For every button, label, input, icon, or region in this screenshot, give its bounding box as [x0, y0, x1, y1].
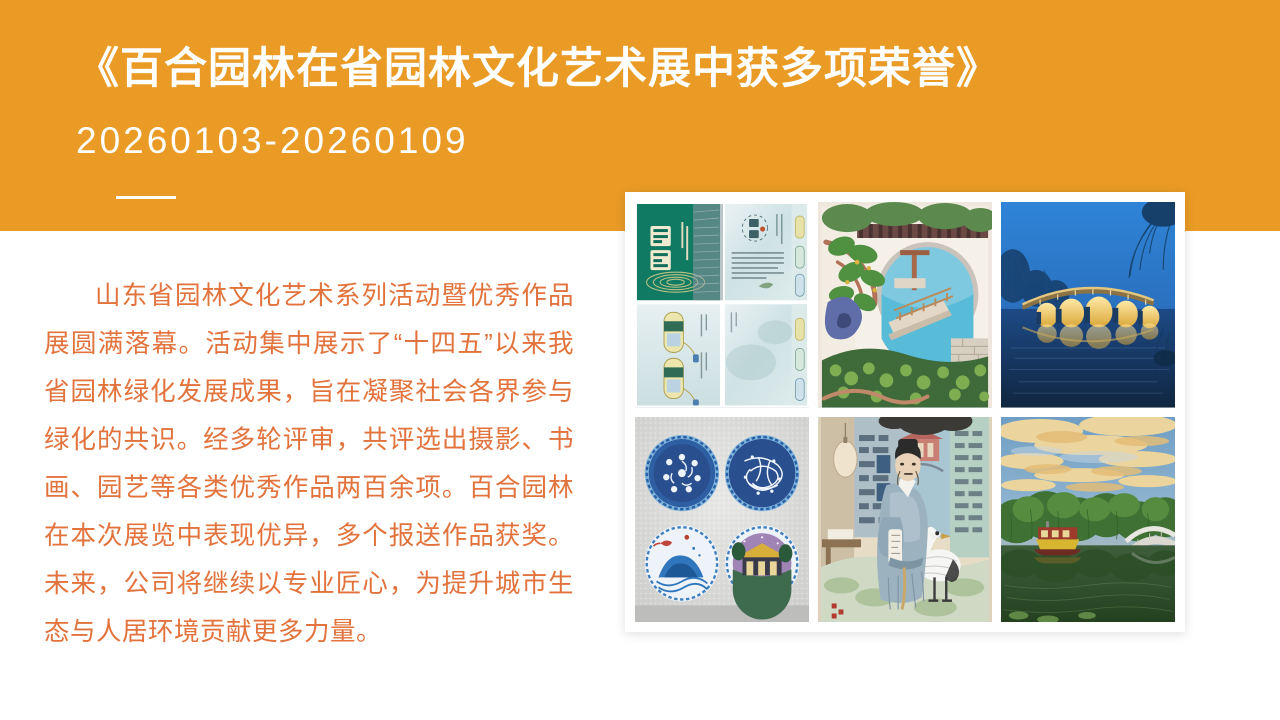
book-spread-artwork — [635, 202, 809, 408]
date-range: 20260103-20260109 — [76, 118, 469, 164]
photo-grid — [635, 202, 1175, 622]
gallery-item-garden-painting[interactable] — [818, 202, 992, 408]
gallery-item-lake-sunset[interactable] — [1001, 417, 1175, 623]
gallery-item-porcelain-plates[interactable] — [635, 417, 809, 623]
night-bridge-photo — [1001, 202, 1175, 408]
porcelain-plates-photo — [635, 417, 809, 623]
lake-sunset-photo — [1001, 417, 1175, 623]
title-underline-rule — [116, 196, 176, 199]
photo-card — [625, 192, 1185, 632]
gallery-item-night-bridge[interactable] — [1001, 202, 1175, 408]
article-body: 山东省园林文化艺术系列活动暨优秀作品展圆满落幕。活动集中展示了“十四五”以来我省… — [44, 272, 574, 656]
slide-root: 《百合园林在省园林文化艺术展中获多项荣誉》 20260103-20260109 … — [0, 0, 1280, 720]
page-title: 《百合园林在省园林文化艺术展中获多项荣誉》 — [76, 40, 1196, 98]
gallery-item-scholar-painting[interactable] — [818, 417, 992, 623]
garden-painting-artwork — [818, 202, 992, 408]
gallery-item-book-spread[interactable] — [635, 202, 809, 408]
scholar-painting-artwork — [818, 417, 992, 623]
